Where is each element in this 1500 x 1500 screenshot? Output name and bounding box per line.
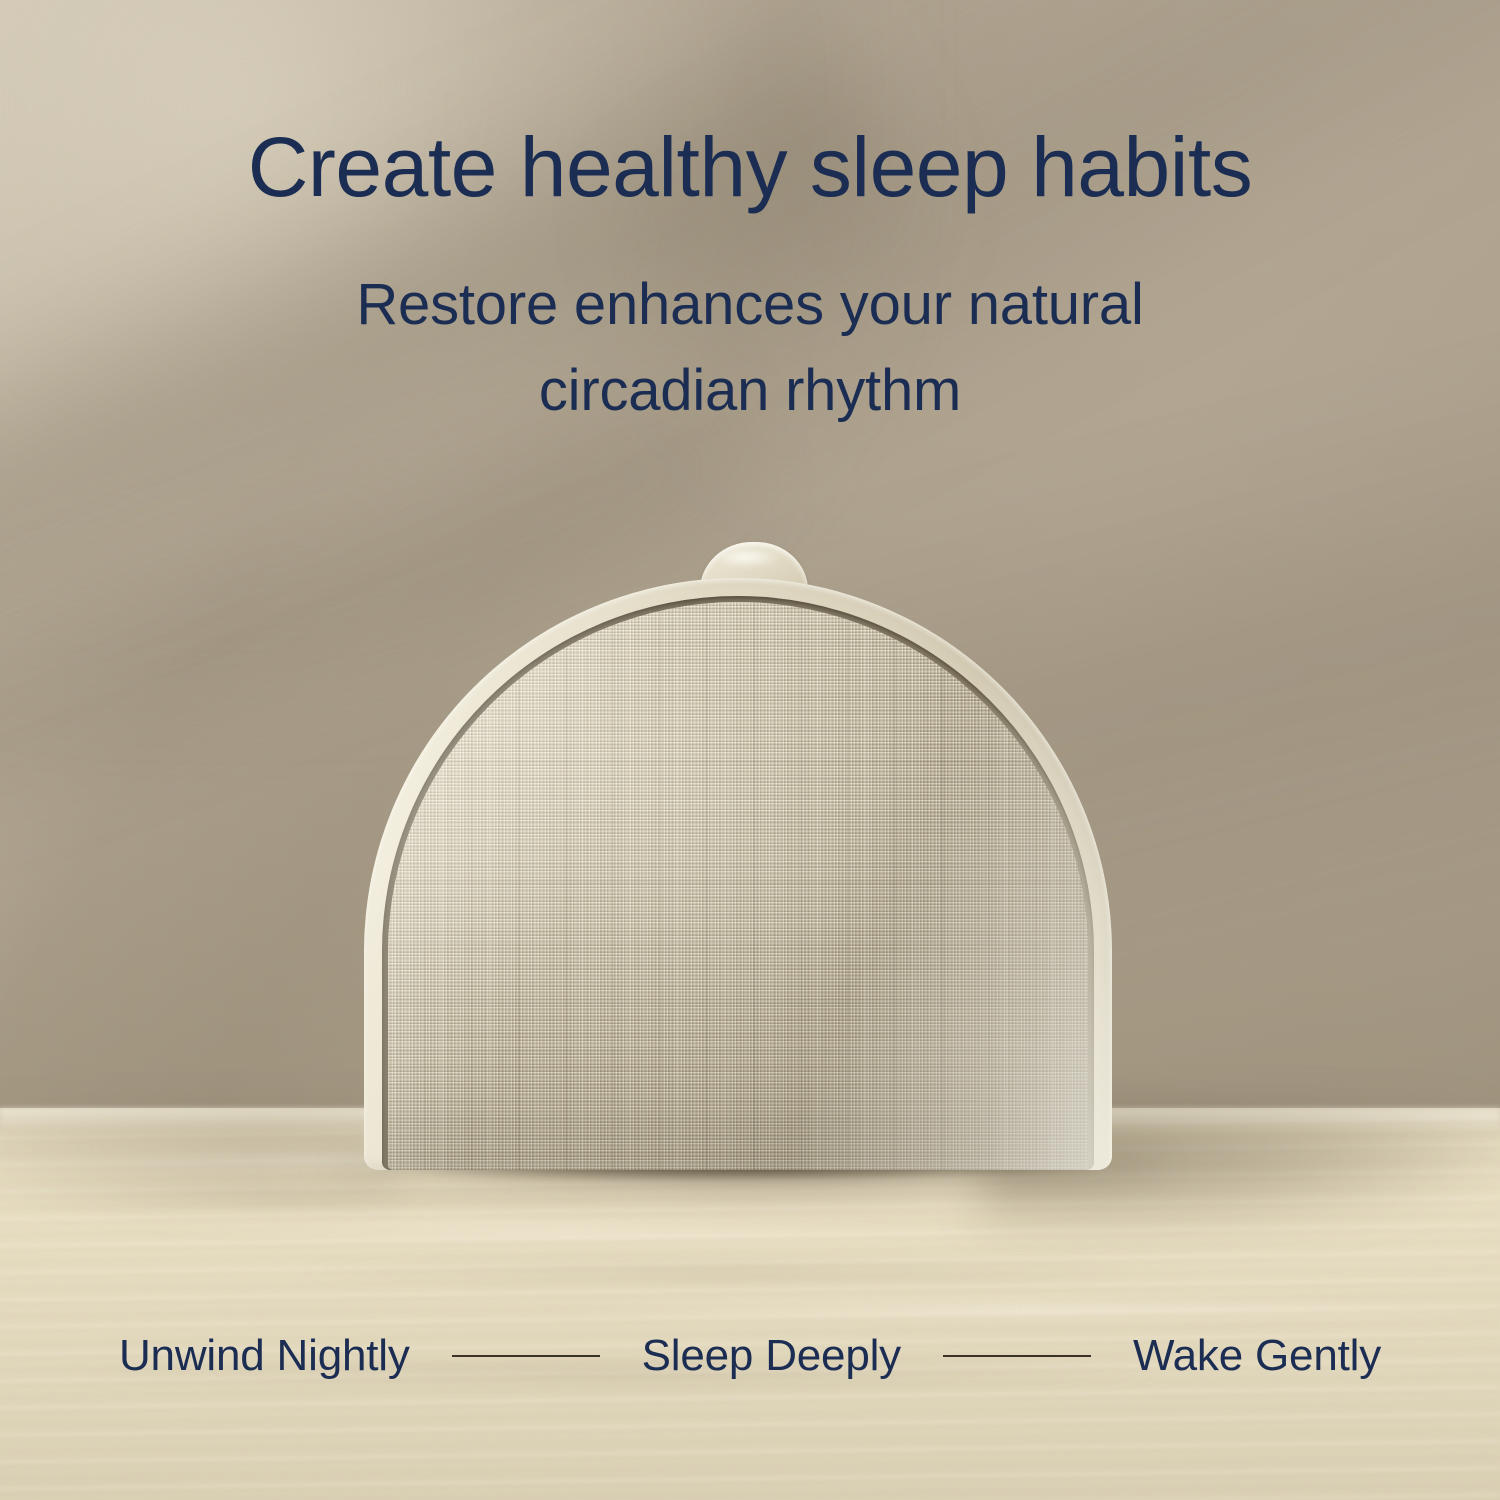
product-device: [364, 578, 1112, 1174]
page-subtitle: Restore enhances your natural circadian …: [0, 262, 1500, 434]
feature-divider-2: [943, 1355, 1091, 1357]
feature-bar: Unwind Nightly Sleep Deeply Wake Gently: [0, 1318, 1500, 1394]
feature-label-wake-gently: Wake Gently: [1133, 1331, 1381, 1381]
table-grain-streak: [300, 1268, 1160, 1275]
feature-label-unwind-nightly: Unwind Nightly: [119, 1331, 410, 1381]
table-highlight-streak: [520, 1304, 1500, 1313]
page-title: Create healthy sleep habits: [0, 124, 1500, 211]
subtitle-line-2: circadian rhythm: [0, 348, 1500, 434]
subtitle-line-1: Restore enhances your natural: [0, 262, 1500, 348]
table-highlight-streak: [120, 1226, 1020, 1234]
product-hero-banner: Create healthy sleep habits Restore enha…: [0, 0, 1500, 1500]
feature-label-sleep-deeply: Sleep Deeply: [642, 1331, 901, 1381]
feature-divider-1: [452, 1355, 600, 1357]
